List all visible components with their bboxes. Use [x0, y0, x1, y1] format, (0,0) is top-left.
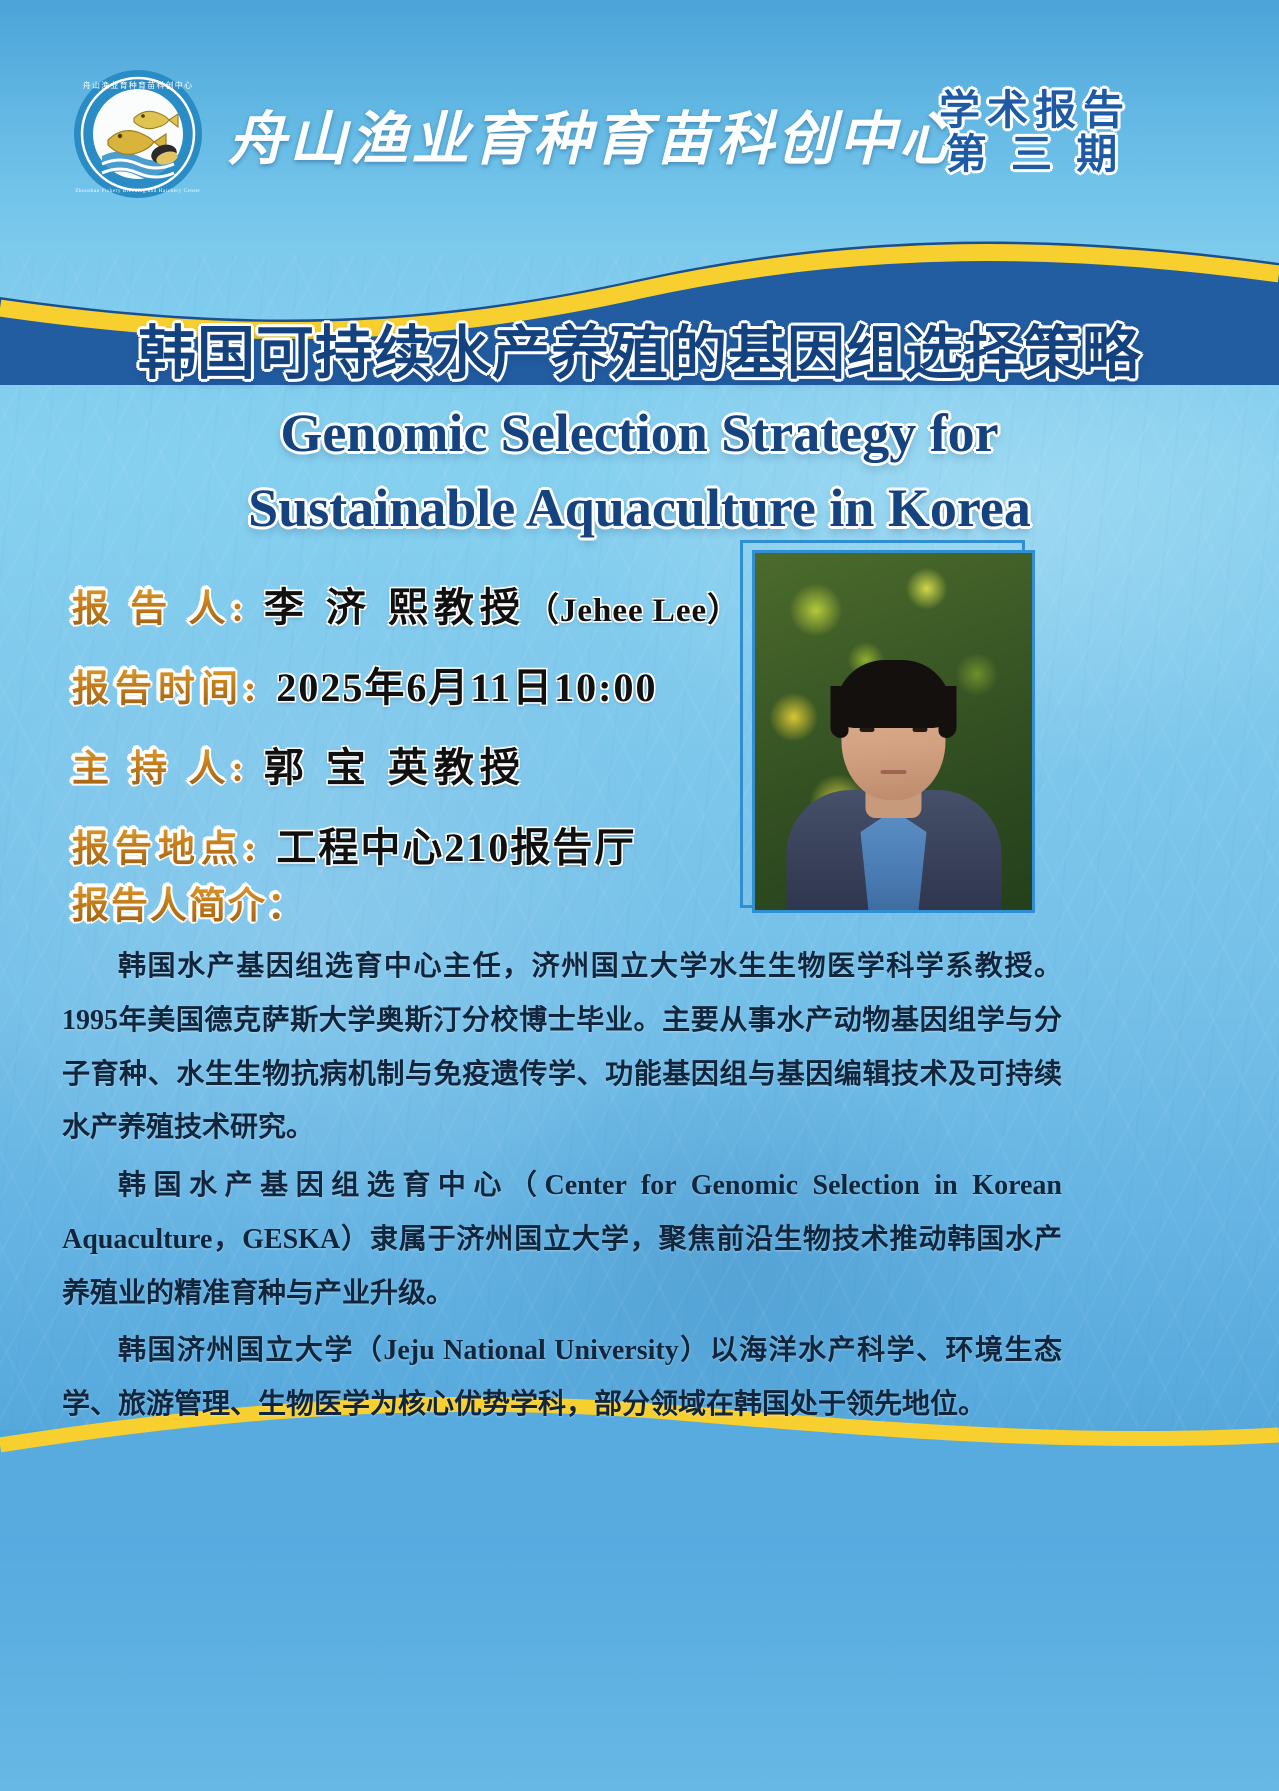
speaker-label: 报 告 人: [72, 578, 250, 632]
title-block: 韩国可持续水产养殖的基因组选择策略 Genomic Selection Stra… [0, 318, 1279, 542]
title-chinese: 韩国可持续水产养殖的基因组选择策略 [0, 318, 1279, 391]
portrait-mouth [881, 770, 907, 774]
bio-paragraph-2: 韩国水产基因组选育中心（Center for Genomic Selection… [62, 1159, 1062, 1320]
bio-heading: 报告人简介： [72, 875, 306, 929]
title-english-line2: Sustainable Aquaculture in Korea [0, 476, 1279, 542]
datetime-value: 2025年6月11日10:00 [276, 655, 657, 713]
detail-row-datetime: 报告时间: 2025年6月11日10:00 [72, 655, 772, 713]
title-english-line1: Genomic Selection Strategy for [0, 401, 1279, 467]
issue-badge: 学术报告 第 三 期 [939, 88, 1131, 177]
host-label: 主 持 人: [72, 738, 250, 792]
speaker-name-english: （Jehee Lee） [526, 593, 741, 629]
bio-paragraph-1: 韩国水产基因组选育中心主任，济州国立大学水生生物医学科学系教授。1995年美国德… [62, 940, 1062, 1155]
issue-label-line2: 第 三 期 [939, 132, 1131, 176]
issue-label-line1: 学术报告 [939, 88, 1131, 132]
bottom-panel-background [0, 1430, 1279, 1791]
detail-row-host: 主 持 人: 郭 宝 英教授 [72, 735, 772, 793]
venue-label: 报告地点: [72, 818, 262, 872]
detail-row-speaker: 报 告 人: 李 济 熙教授（Jehee Lee） [72, 575, 772, 633]
portrait-photo [752, 550, 1035, 913]
event-details-list: 报 告 人: 李 济 熙教授（Jehee Lee） 报告时间: 2025年6月1… [72, 575, 772, 895]
organization-name: 舟山渔业育种育苗科创中心 [228, 92, 960, 176]
poster-header: 舟山渔业育种育苗科创中心 Zhoushan Fishery Breeding a… [0, 0, 1279, 230]
venue-value: 工程中心210报告厅 [276, 815, 636, 873]
speaker-value: 李 济 熙教授（Jehee Lee） [264, 575, 741, 633]
detail-row-venue: 报告地点: 工程中心210报告厅 [72, 815, 772, 873]
bio-body: 韩国水产基因组选育中心主任，济州国立大学水生生物医学科学系教授。1995年美国德… [62, 940, 1062, 1436]
bio-paragraph-3: 韩国济州国立大学（Jeju National University）以海洋水产科… [62, 1324, 1062, 1432]
organization-logo-icon: 舟山渔业育种育苗科创中心 Zhoushan Fishery Breeding a… [72, 68, 204, 200]
speaker-portrait [740, 540, 1035, 915]
datetime-label: 报告时间: [72, 658, 262, 712]
host-value: 郭 宝 英教授 [264, 735, 526, 793]
svg-text:舟山渔业育种育苗科创中心: 舟山渔业育种育苗科创中心 [83, 80, 193, 90]
portrait-person [786, 675, 1001, 910]
svg-text:Zhoushan Fishery Breeding and: Zhoushan Fishery Breeding and Hatchery C… [75, 189, 200, 194]
seminar-poster: 舟山渔业育种育苗科创中心 Zhoushan Fishery Breeding a… [0, 0, 1279, 1791]
